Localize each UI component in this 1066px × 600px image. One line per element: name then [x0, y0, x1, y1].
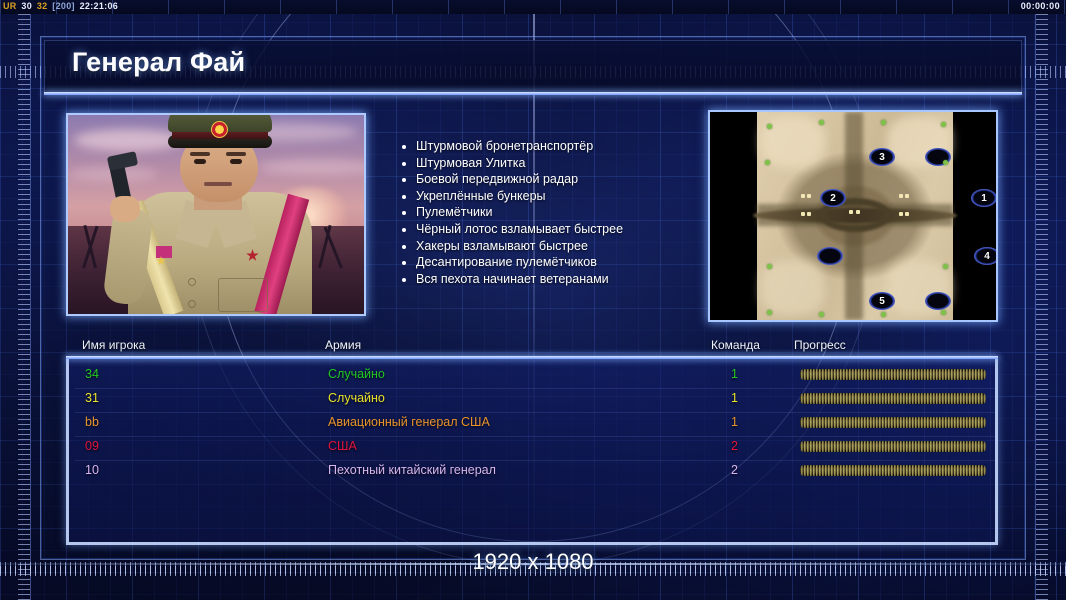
portrait-brow [226, 152, 246, 156]
players-table-underline [66, 356, 998, 359]
player-army: Случайно [328, 367, 385, 381]
column-header-progress: Прогресс [794, 338, 846, 352]
minimap-supply-icon [943, 160, 948, 165]
general-portrait [66, 113, 366, 316]
minimap-start-position-label: 3 [879, 152, 885, 163]
minimap-start-position[interactable]: 2 [820, 189, 846, 207]
portrait-pocket [218, 278, 268, 312]
portrait-cloud [258, 159, 366, 175]
player-team: 1 [731, 415, 738, 429]
minimap-start-position-label: 2 [830, 193, 836, 204]
table-row[interactable]: bbАвиационный генерал США1 [69, 412, 1001, 436]
minimap-supply-icon [943, 264, 948, 269]
minimap-supply-icon [819, 312, 824, 317]
minimap-oil-icon [905, 212, 909, 216]
portrait-eye [194, 159, 206, 164]
ruler-right [1036, 14, 1048, 600]
player-army: США [328, 439, 357, 453]
ability-item: Вся пехота начинает ветеранами [416, 271, 716, 288]
portrait-mouth [204, 182, 232, 186]
portrait-eye [230, 159, 242, 164]
minimap-oil-icon [899, 212, 903, 216]
player-name: 10 [85, 463, 99, 477]
minimap-start-position[interactable]: 1 [971, 189, 997, 207]
player-army: Авиационный генерал США [328, 415, 490, 429]
edge-line-right [1035, 14, 1036, 600]
player-team: 2 [731, 439, 738, 453]
table-row[interactable]: 10Пехотный китайский генерал2 [69, 460, 1001, 484]
minimap-oil-icon [801, 194, 805, 198]
player-team: 2 [731, 463, 738, 477]
portrait-hand [110, 196, 140, 222]
minimap-supply-icon [765, 160, 770, 165]
minimap-supply-icon [767, 264, 772, 269]
minimap-supply-icon [941, 122, 946, 127]
minimap-oil-icon [849, 210, 853, 214]
hud-stat-0: UR [2, 1, 18, 11]
minimap-supply-icon [881, 120, 886, 125]
minimap-start-position[interactable]: 3 [869, 148, 895, 166]
general-abilities-list: Штурмовой бронетранспортёрШтурмовая Улит… [416, 138, 716, 287]
portrait-button [188, 278, 196, 286]
players-table-header: Имя игрока Армия Команда Прогресс [66, 338, 998, 356]
minimap-start-position[interactable]: 4 [974, 247, 998, 265]
hud-stat-3: [200] [51, 1, 76, 11]
minimap-terrain: 32145 [757, 112, 953, 320]
hud-stats-text: UR 30 32 [200] 22:21:06 [2, 1, 119, 11]
minimap-start-position[interactable] [925, 292, 951, 310]
player-army: Пехотный китайский генерал [328, 463, 496, 477]
minimap-oil-icon [807, 212, 811, 216]
portrait-cap-badge-icon [211, 121, 228, 138]
minimap[interactable]: 32145 [708, 110, 998, 322]
minimap-oil-icon [856, 210, 860, 214]
portrait-button [188, 300, 196, 308]
column-header-team: Команда [711, 338, 760, 352]
general-info-panel: Штурмовой бронетранспортёрШтурмовая Улит… [66, 110, 998, 327]
minimap-oil-icon [807, 194, 811, 198]
ability-item: Десантирование пулемётчиков [416, 254, 716, 271]
player-name: 09 [85, 439, 99, 453]
column-header-army: Армия [325, 338, 361, 352]
minimap-oil-icon [905, 194, 909, 198]
top-hud-ticks [0, 0, 1066, 14]
player-team: 1 [731, 367, 738, 381]
minimap-start-position[interactable] [817, 247, 843, 265]
minimap-supply-icon [819, 120, 824, 125]
title-underline [44, 92, 1022, 95]
player-progress-bar [800, 369, 986, 380]
minimap-supply-icon [767, 124, 772, 129]
minimap-start-position-label: 4 [984, 251, 990, 262]
portrait-medal-ribbon [156, 246, 172, 258]
top-hud-bar: UR 30 32 [200] 22:21:06 00:00:00 [0, 0, 1066, 14]
player-progress-bar [800, 417, 986, 428]
minimap-supply-icon [881, 312, 886, 317]
player-name: 34 [85, 367, 99, 381]
ability-item: Укреплённые бункеры [416, 188, 716, 205]
edge-line-left [30, 14, 31, 600]
hud-stat-1: 30 [20, 1, 33, 11]
minimap-oil-icon [899, 194, 903, 198]
table-row[interactable]: 09США2 [69, 436, 1001, 460]
minimap-start-position[interactable]: 5 [869, 292, 895, 310]
ability-item: Боевой передвижной радар [416, 171, 716, 188]
hud-stat-2: 32 [36, 1, 49, 11]
table-row[interactable]: 31Случайно1 [69, 388, 1001, 412]
portrait-brow [190, 152, 210, 156]
minimap-start-position-label: 5 [879, 296, 885, 307]
table-row[interactable]: 34Случайно1 [69, 364, 1001, 388]
ability-item: Хакеры взламывают быстрее [416, 238, 716, 255]
column-header-name: Имя игрока [82, 338, 145, 352]
player-army: Случайно [328, 391, 385, 405]
player-progress-bar [800, 393, 986, 404]
minimap-oil-icon [801, 212, 805, 216]
page-title: Генерал Фай [72, 47, 245, 78]
player-progress-bar [800, 441, 986, 452]
player-name: bb [85, 415, 99, 429]
minimap-start-position-label: 1 [981, 193, 987, 204]
ruler-left [18, 14, 30, 600]
hud-timer: 00:00:00 [1021, 1, 1060, 11]
minimap-supply-icon [767, 310, 772, 315]
players-table-body: 34Случайно131Случайно1bbАвиационный гене… [66, 359, 998, 545]
player-progress-bar [800, 465, 986, 476]
ability-item: Штурмовой бронетранспортёр [416, 138, 716, 155]
minimap-supply-icon [941, 310, 946, 315]
ability-item: Пулемётчики [416, 204, 716, 221]
ability-item: Штурмовая Улитка [416, 155, 716, 172]
hud-stat-4: 22:21:06 [79, 1, 119, 11]
player-team: 1 [731, 391, 738, 405]
ability-item: Чёрный лотос взламывает быстрее [416, 221, 716, 238]
player-name: 31 [85, 391, 99, 405]
resolution-label: 1920 x 1080 [0, 549, 1066, 575]
